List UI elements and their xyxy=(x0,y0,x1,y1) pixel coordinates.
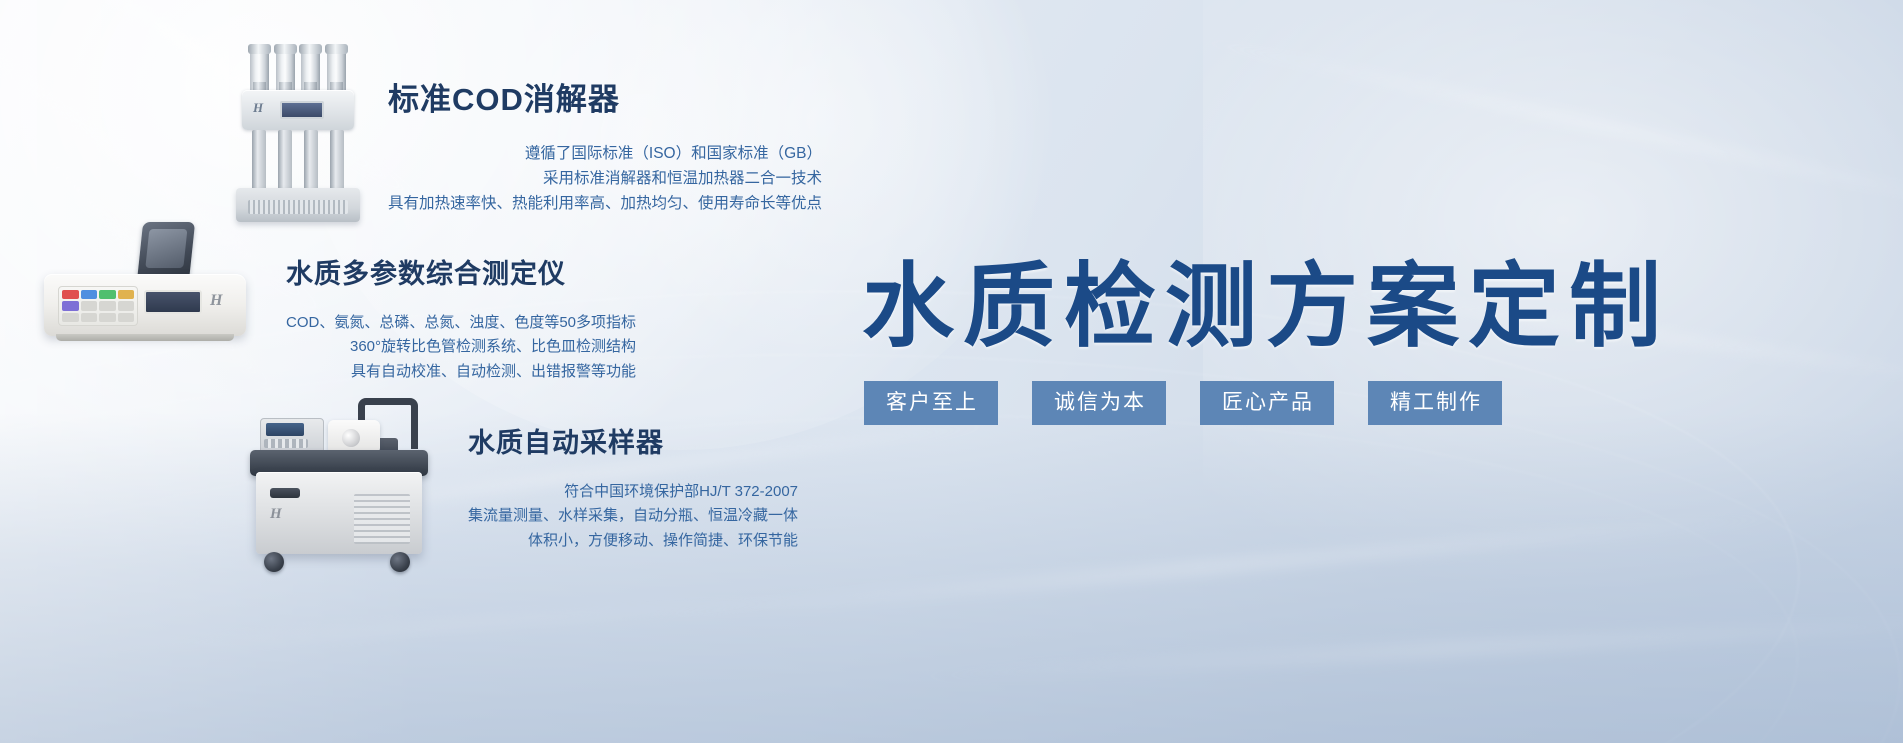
slogan-badge-row: 客户至上 诚信为本 匠心产品 精工制作 xyxy=(864,381,1502,425)
analyzer-base xyxy=(56,334,234,341)
keypad-key xyxy=(99,290,116,299)
sampler-wheel xyxy=(390,552,410,572)
keypad-key xyxy=(81,301,98,310)
cod-vent-grill xyxy=(248,200,348,214)
description-line: 体积小，方便移动、操作简捷、环保节能 xyxy=(468,529,798,553)
keypad-key xyxy=(118,301,135,310)
brand-mark-icon: H xyxy=(210,292,222,310)
analyzer-lid xyxy=(137,222,195,282)
keypad-key xyxy=(62,313,79,322)
keypad-key xyxy=(81,313,98,322)
product-title: 水质多参数综合测定仪 xyxy=(286,252,636,291)
cod-tube xyxy=(301,48,320,94)
description-line: 具有自动校准、自动检测、出错报警等功能 xyxy=(286,360,636,384)
sampler-display-screen xyxy=(266,423,304,436)
description-line: COD、氨氮、总磷、总氮、浊度、色度等50多项指标 xyxy=(286,311,636,335)
product-block-cod-digester: 标准COD消解器 遵循了国际标准（ISO）和国家标准（GB） 采用标准消解器和恒… xyxy=(388,74,822,216)
cod-rod xyxy=(304,130,318,194)
description-line: 集流量测量、水样采集，自动分瓶、恒温冷藏一体 xyxy=(468,504,798,528)
product-description: 遵循了国际标准（ISO）和国家标准（GB） 采用标准消解器和恒温加热器二合一技术… xyxy=(388,141,822,216)
description-line: 遵循了国际标准（ISO）和国家标准（GB） xyxy=(388,141,822,166)
cod-rod xyxy=(278,130,292,194)
sampler-door-handle xyxy=(270,488,300,498)
description-line: 符合中国环境保护部HJ/T 372-2007 xyxy=(468,480,798,504)
light-ray-6 xyxy=(900,611,1903,687)
sampler-wheel xyxy=(264,552,284,572)
description-line: 360°旋转比色管检测系统、比色皿检测结构 xyxy=(286,335,636,359)
light-ray-1 xyxy=(0,0,450,224)
badge-craftsmanship[interactable]: 匠心产品 xyxy=(1200,381,1334,425)
product-description: 符合中国环境保护部HJ/T 372-2007 集流量测量、水样采集，自动分瓶、恒… xyxy=(468,480,798,553)
keypad-key xyxy=(118,290,135,299)
product-description: COD、氨氮、总磷、总氮、浊度、色度等50多项指标 360°旋转比色管检测系统、… xyxy=(286,311,636,384)
light-ray-7 xyxy=(41,592,840,660)
cod-tube-rack xyxy=(250,48,346,94)
sampler-peristaltic-pump xyxy=(328,420,380,454)
water-quality-banner: H H xyxy=(0,0,1903,743)
analyzer-display-screen xyxy=(144,290,202,314)
banner-headline: 水质检测方案定制 xyxy=(862,232,1670,365)
analyzer-keypad xyxy=(58,286,138,326)
keypad-key xyxy=(62,290,79,299)
auto-water-sampler-image: H xyxy=(246,398,434,584)
product-block-multi-parameter-analyzer: 水质多参数综合测定仪 COD、氨氮、总磷、总氮、浊度、色度等50多项指标 360… xyxy=(286,252,636,384)
keypad-key xyxy=(62,301,79,310)
brand-mark-icon: H xyxy=(270,506,282,523)
sampler-vent-grill xyxy=(354,494,410,544)
light-ray-8 xyxy=(1159,27,1903,225)
badge-integrity[interactable]: 诚信为本 xyxy=(1032,381,1166,425)
product-block-auto-water-sampler: 水质自动采样器 符合中国环境保护部HJ/T 372-2007 集流量测量、水样采… xyxy=(468,421,798,553)
cod-display-screen xyxy=(280,101,324,119)
keypad-key xyxy=(99,313,116,322)
cod-tube xyxy=(327,48,346,94)
multi-parameter-analyzer-image: H xyxy=(32,222,258,342)
description-line: 采用标准消解器和恒温加热器二合一技术 xyxy=(388,166,822,191)
badge-precision-manufacturing[interactable]: 精工制作 xyxy=(1368,381,1502,425)
cod-digester-image: H xyxy=(236,48,360,220)
cod-tube xyxy=(276,48,295,94)
cod-rod xyxy=(330,130,344,194)
keypad-key xyxy=(118,313,135,322)
cod-heating-rods xyxy=(252,130,344,194)
brand-mark-icon: H xyxy=(253,100,269,116)
product-title: 标准COD消解器 xyxy=(388,74,822,119)
sampler-keypad xyxy=(264,439,308,448)
cod-rod xyxy=(252,130,266,194)
keypad-key xyxy=(99,301,116,310)
description-line: 具有加热速率快、热能利用率高、加热均匀、使用寿命长等优点 xyxy=(388,191,822,216)
product-title: 水质自动采样器 xyxy=(468,421,798,460)
keypad-key xyxy=(81,290,98,299)
badge-customer-first[interactable]: 客户至上 xyxy=(864,381,998,425)
cod-tube xyxy=(250,48,269,94)
